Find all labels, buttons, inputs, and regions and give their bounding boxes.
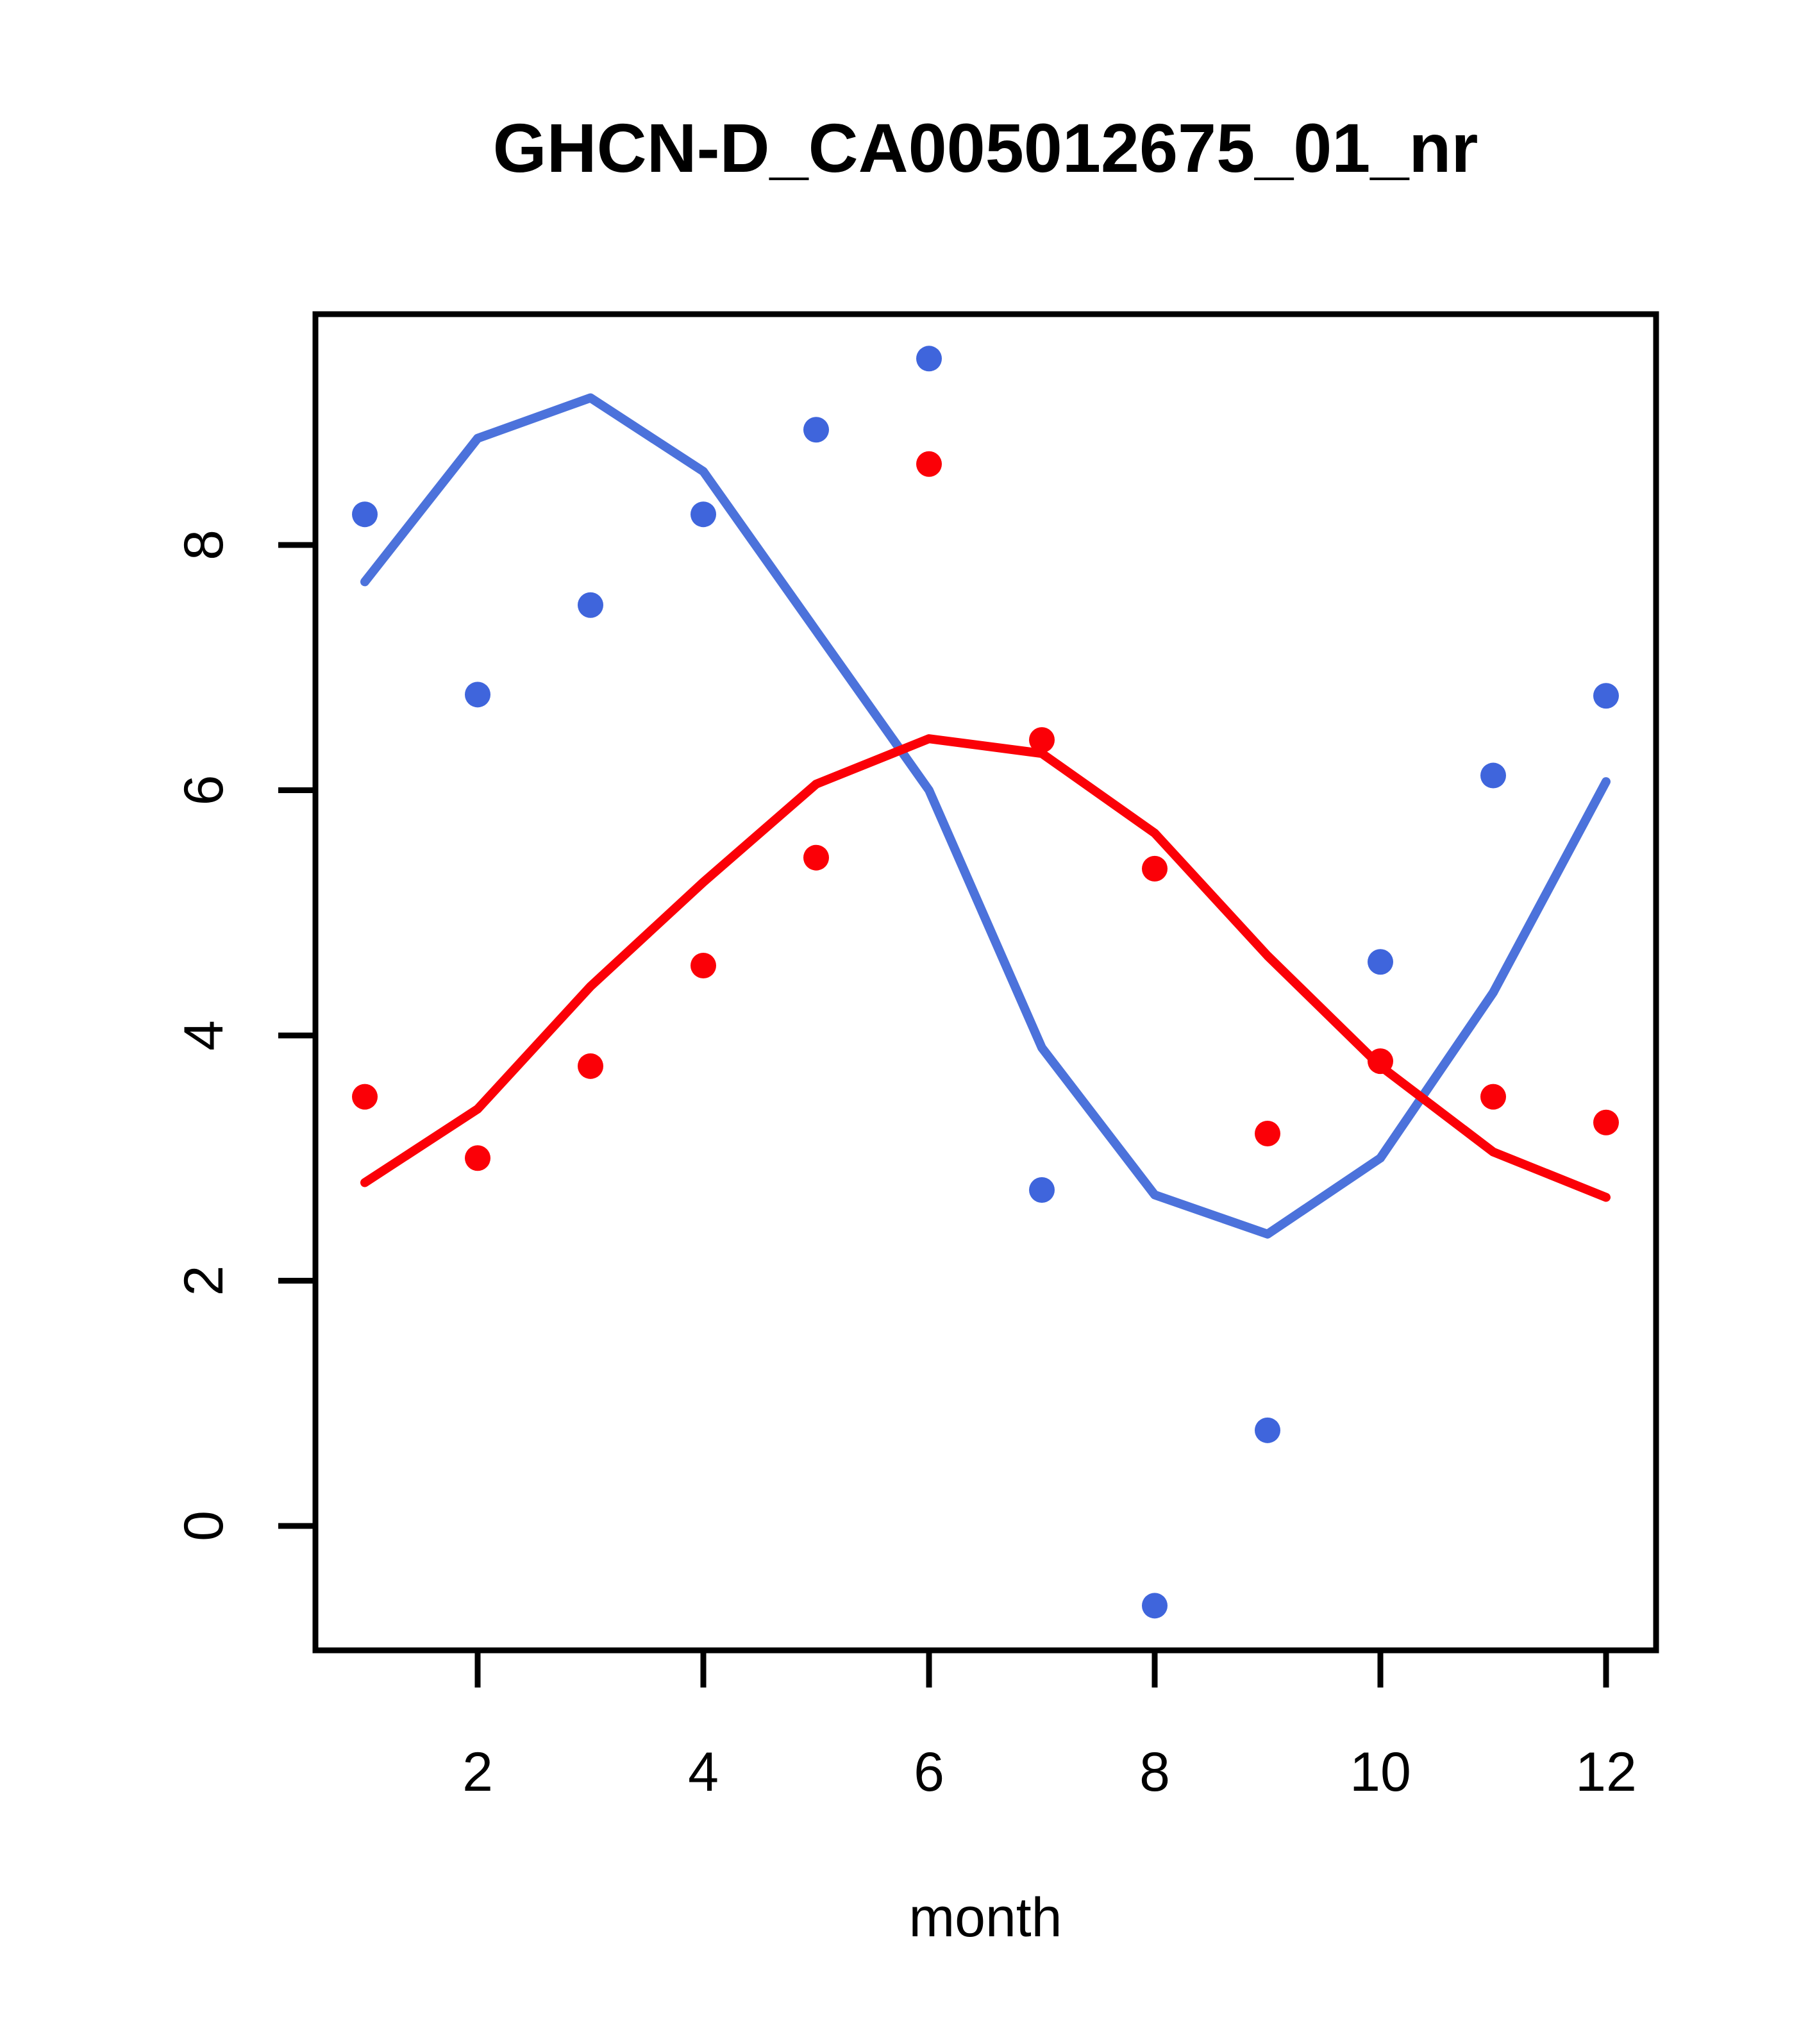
data-point-red-points (691, 953, 716, 978)
chart-container: GHCN-D_CA005012675_01_nr 02468 24681012 … (0, 0, 1817, 2044)
data-point-blue-points (578, 592, 603, 618)
x-axis-tick-label: 6 (914, 1741, 944, 1803)
x-axis-title: month (908, 1887, 1062, 1948)
data-point-red-points (1029, 727, 1055, 753)
data-point-red-points (578, 1053, 603, 1079)
y-axis-tick-label: 4 (173, 1020, 235, 1051)
data-point-blue-points (1029, 1177, 1055, 1203)
data-point-red-points (916, 451, 942, 477)
data-point-red-points (1368, 1048, 1393, 1074)
data-point-red-points (1593, 1110, 1619, 1135)
y-axis-tick-label: 8 (173, 530, 235, 560)
data-point-blue-points (691, 501, 716, 527)
x-axis-tick-label: 12 (1575, 1741, 1637, 1803)
x-axis-tick-label: 8 (1139, 1741, 1170, 1803)
chart-background (0, 0, 1817, 2044)
data-point-blue-points (352, 501, 378, 527)
data-point-red-points (1255, 1121, 1280, 1146)
page-title: GHCN-D_CA005012675_01_nr (493, 109, 1478, 187)
data-point-red-points (1480, 1084, 1506, 1110)
data-point-blue-points (1255, 1418, 1280, 1443)
data-point-red-points (1142, 856, 1168, 882)
y-axis-tick-label: 0 (173, 1511, 235, 1541)
data-point-blue-points (1480, 763, 1506, 789)
y-axis-tick-label: 6 (173, 775, 235, 806)
data-point-blue-points (803, 417, 829, 442)
data-point-red-points (352, 1084, 378, 1110)
data-point-blue-points (1142, 1593, 1168, 1618)
data-point-blue-points (1368, 949, 1393, 975)
data-point-blue-points (916, 346, 942, 371)
chart-canvas: GHCN-D_CA005012675_01_nr 02468 24681012 … (0, 0, 1817, 2044)
y-axis-tick-label: 2 (173, 1266, 235, 1296)
data-point-blue-points (465, 682, 490, 707)
x-axis-tick-label: 4 (688, 1741, 719, 1803)
x-axis-tick-label: 2 (462, 1741, 493, 1803)
data-point-blue-points (1593, 683, 1619, 708)
data-point-red-points (465, 1145, 490, 1171)
data-point-red-points (803, 845, 829, 871)
x-axis-tick-label: 10 (1350, 1741, 1411, 1803)
